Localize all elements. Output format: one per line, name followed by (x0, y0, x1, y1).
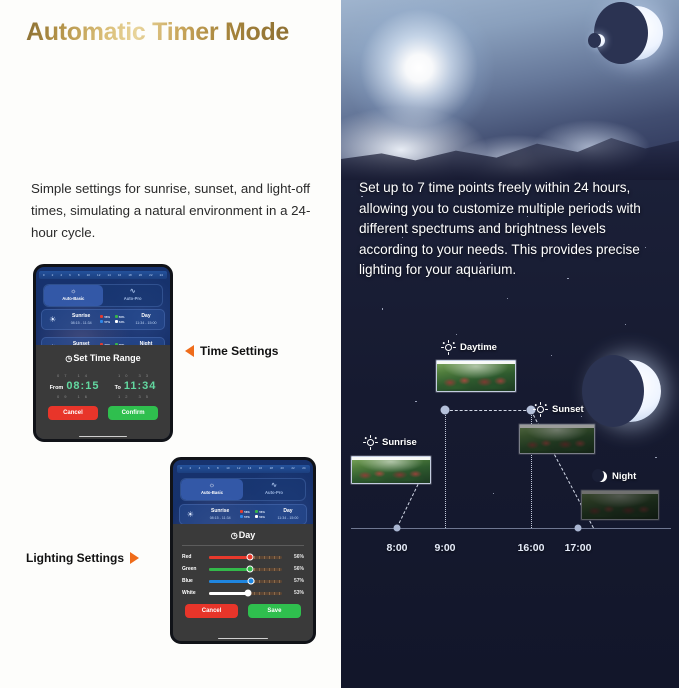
slider-row-red[interactable]: Red 56% (182, 554, 304, 560)
description-paragraph: Set up to 7 time points freely within 24… (359, 178, 664, 281)
tick-label: 16:00 (518, 542, 545, 554)
slider-row-green[interactable]: Green 56% (182, 566, 304, 572)
callout-time-settings-label: Time Settings (200, 344, 278, 358)
ruler-mark: 4 (60, 274, 62, 277)
wave-icon: ∿ (243, 482, 305, 490)
ruler-mark: 24 (302, 467, 305, 470)
ruler-mark: 2 (52, 274, 54, 277)
slider-knob-green (246, 566, 253, 573)
cancel-button[interactable]: Cancel (185, 604, 238, 618)
tick-label: 8:00 (386, 542, 407, 554)
swatch-red: 56% (100, 315, 112, 319)
tab-auto-pro[interactable]: ∿ Auto-Pro (243, 479, 305, 500)
ruler-mark: 18 (270, 467, 273, 470)
timeline-chart: 8:00 9:00 16:00 17:00 Sunrise (341, 330, 679, 590)
ruler-mark: 8 (78, 274, 80, 277)
day-cell[interactable]: Day 11:34 - 15:00 (270, 505, 307, 524)
tank-preview-night (581, 490, 659, 520)
from-label: From (50, 385, 64, 391)
swatch-blue: 57% (240, 515, 253, 519)
light-sheet-buttons: Cancel Save (173, 604, 313, 618)
sky-photo (341, 0, 679, 180)
slider-knob-blue (247, 578, 254, 585)
phone-screen-time: 0 2 4 6 8 10 12 14 16 18 20 22 24 ☼ (36, 267, 170, 439)
callout-time-settings: Time Settings (185, 344, 278, 358)
slider-label-blue: Blue (182, 578, 204, 584)
home-indicator (218, 638, 268, 640)
annotation-night-label: Night (612, 471, 636, 482)
left-arrow-icon (185, 345, 194, 357)
ruler-mark: 10 (226, 467, 229, 470)
ruler-mark: 6 (208, 467, 210, 470)
annotation-daytime-label: Daytime (460, 342, 497, 353)
ruler-mark: 20 (139, 274, 142, 277)
ruler-mark: 16 (259, 467, 262, 470)
slider-label-green: Green (182, 566, 204, 572)
ruler-mark: 0 (43, 274, 45, 277)
slider-track-green[interactable] (209, 568, 282, 571)
ruler-mark: 2 (189, 467, 191, 470)
clock-icon: ◷ (65, 354, 72, 363)
sunrise-icon: ☀ (42, 310, 63, 329)
to-below-values: 12 35 (115, 392, 157, 401)
from-column[interactable]: 07 14 From 08:15 09 16 (50, 371, 100, 401)
tank-preview-sunset (519, 424, 595, 454)
day-lighting-sheet: ◷Day Red 56% Green (173, 524, 313, 641)
sun-icon: ☼ (181, 482, 243, 490)
tab-auto-pro-label: Auto-Pro (124, 296, 142, 301)
right-arrow-icon (130, 552, 139, 564)
phone-mockup-lighting-settings: 0 2 4 6 8 10 12 14 16 18 20 22 24 ☼ (170, 457, 316, 644)
save-button[interactable]: Save (248, 604, 301, 618)
ruler-mark: 16 (118, 274, 121, 277)
ruler-mark: 12 (97, 274, 100, 277)
timeline-ruler-light[interactable]: 0 2 4 6 8 10 12 14 16 18 20 22 24 (177, 465, 310, 473)
sun-icon (441, 340, 456, 355)
node-8am[interactable] (394, 525, 401, 532)
annotation-sunset: Sunset (533, 402, 584, 417)
slider-label-white: White (182, 590, 204, 596)
sun-icon: ☼ (44, 288, 103, 296)
tab-auto-basic-label: Auto-Basic (201, 490, 223, 495)
sunrise-time: 08:15 - 11:34 (63, 321, 99, 326)
sunset-sun-icon (533, 402, 548, 417)
node-17pm[interactable] (575, 525, 582, 532)
home-indicator (79, 436, 127, 438)
sunrise-label: Sunrise (63, 313, 99, 321)
to-label: To (115, 385, 121, 391)
slider-value-green: 56% (287, 566, 304, 572)
day-time: 11:34 - 15:00 (270, 516, 307, 521)
ruler-mark: 8 (217, 467, 219, 470)
sheet-divider (182, 545, 304, 546)
tank-preview-sunrise (351, 456, 431, 484)
ruler-mark: 18 (128, 274, 131, 277)
slider-track-white[interactable] (209, 592, 282, 595)
plateau-line (445, 410, 531, 411)
ruler-mark: 12 (237, 467, 240, 470)
swatch-green: 56% (115, 315, 127, 319)
slider-value-white: 53% (287, 590, 304, 596)
sunrise-label: Sunrise (201, 508, 239, 516)
ruler-mark: 4 (199, 467, 201, 470)
sunrise-swatches: 56% 56% 57% 53% (99, 310, 128, 329)
swatch-blue: 57% (100, 320, 112, 324)
set-time-range-sheet: ◷Set Time Range 07 14 From 08:15 09 16 (36, 345, 170, 439)
tab-auto-basic-label: Auto-Basic (62, 296, 84, 301)
to-value[interactable]: 11:34 (124, 380, 157, 392)
ruler-mark: 14 (248, 467, 251, 470)
callout-lighting-settings-label: Lighting Settings (26, 551, 124, 565)
slider-knob-white (244, 590, 251, 597)
ruler-mark: 6 (69, 274, 71, 277)
ruler-mark: 20 (280, 467, 283, 470)
ruler-mark: 0 (180, 467, 182, 470)
sunrise-cell[interactable]: Sunrise 08:15 - 11:34 (63, 310, 99, 329)
tank-preview-daytime (436, 360, 516, 392)
phone-screen-light: 0 2 4 6 8 10 12 14 16 18 20 22 24 ☼ (173, 460, 313, 641)
slider-track-blue[interactable] (209, 580, 282, 583)
time-range-picker[interactable]: 07 14 From 08:15 09 16 10 33 To 11 (36, 369, 170, 401)
ruler-mark: 22 (291, 467, 294, 470)
time-sheet-buttons: Cancel Confirm (36, 406, 170, 420)
day-cell[interactable]: Day 11:34 - 15:00 (128, 310, 163, 329)
slider-row-blue[interactable]: Blue 57% (182, 578, 304, 584)
tab-auto-pro-label: Auto-Pro (265, 490, 283, 495)
day-label: Day (270, 508, 307, 516)
annotation-sunrise-label: Sunrise (382, 437, 417, 448)
from-above-values: 07 14 (50, 371, 100, 380)
small-moon-icon (592, 34, 605, 47)
annotation-night: Night (595, 470, 636, 483)
to-above-values: 10 33 (115, 371, 157, 380)
swatch-white: 53% (255, 515, 268, 519)
sheet-title-time: ◷Set Time Range (36, 345, 170, 369)
phone-mockup-time-settings: 0 2 4 6 8 10 12 14 16 18 20 22 24 ☼ (33, 264, 173, 442)
sunrise-time: 08:15 - 11:34 (201, 516, 239, 521)
crescent-moon-icon (595, 470, 608, 483)
sunrise-icon: ☀ (180, 505, 202, 524)
confirm-button[interactable]: Confirm (108, 406, 158, 420)
day-time: 11:34 - 15:00 (128, 321, 163, 326)
annotation-sunrise: Sunrise (363, 435, 417, 450)
cancel-button[interactable]: Cancel (48, 406, 98, 420)
right-panel: Set up to 7 time points freely within 24… (341, 0, 679, 688)
ruler-mark: 14 (107, 274, 110, 277)
slider-value-red: 56% (287, 554, 304, 560)
page-root: Automatic Timer Mode Simple settings for… (0, 0, 679, 688)
schedule-row-sunrise[interactable]: ☀ Sunrise 08:15 - 11:34 56% 56% 57% 53% … (41, 309, 164, 330)
sunrise-cell[interactable]: Sunrise 08:15 - 11:34 (201, 505, 239, 524)
to-column[interactable]: 10 33 To 11:34 12 35 (115, 371, 157, 401)
intro-paragraph: Simple settings for sunrise, sunset, and… (31, 178, 319, 244)
slider-value-blue: 57% (287, 578, 304, 584)
swatch-white: 53% (115, 320, 127, 324)
ruler-mark: 22 (149, 274, 152, 277)
tab-auto-basic[interactable]: ☼ Auto-Basic (181, 479, 243, 500)
slider-label-red: Red (182, 554, 204, 560)
color-sliders: Red 56% Green (173, 550, 313, 604)
sunrise-sun-icon (363, 435, 378, 450)
day-label: Day (128, 313, 163, 321)
mode-tabs-time: ☼ Auto-Basic ∿ Auto-Pro (43, 284, 164, 307)
timeline-ruler-time[interactable]: 0 2 4 6 8 10 12 14 16 18 20 22 24 (39, 271, 166, 279)
ruler-mark: 10 (87, 274, 90, 277)
annotation-sunset-label: Sunset (552, 404, 584, 415)
tick-label: 17:00 (565, 542, 592, 554)
slider-knob-red (246, 554, 253, 561)
ruler-mark: 24 (160, 274, 163, 277)
slider-track-red[interactable] (209, 556, 282, 559)
tab-auto-basic[interactable]: ☼ Auto-Basic (44, 285, 103, 306)
slider-row-white[interactable]: White 53% (182, 590, 304, 596)
sunrise-swatches: 56% 56% 57% 53% (239, 505, 269, 524)
guide-9am (445, 410, 447, 528)
schedule-row-sunrise[interactable]: ☀ Sunrise 08:15 - 11:34 56% 56% 57% 53% … (179, 504, 308, 525)
sheet-title-day: ◷Day (173, 524, 313, 545)
from-value[interactable]: 08:15 (66, 380, 99, 392)
annotation-daytime: Daytime (441, 340, 497, 355)
mountain-silhouette (341, 110, 679, 180)
clock-icon: ◷ (231, 531, 238, 540)
wave-icon: ∿ (103, 288, 162, 296)
callout-lighting-settings: Lighting Settings (26, 551, 139, 565)
tab-auto-pro[interactable]: ∿ Auto-Pro (103, 285, 162, 306)
mode-tabs-light: ☼ Auto-Basic ∿ Auto-Pro (180, 478, 306, 501)
page-title: Automatic Timer Mode (26, 18, 289, 47)
swatch-green: 56% (255, 510, 268, 514)
crescent-moon-icon (609, 6, 663, 60)
tick-label: 9:00 (434, 542, 455, 554)
left-panel: Automatic Timer Mode Simple settings for… (0, 0, 341, 688)
from-below-values: 09 16 (50, 392, 100, 401)
swatch-red: 56% (240, 510, 253, 514)
node-9am[interactable] (441, 406, 450, 415)
